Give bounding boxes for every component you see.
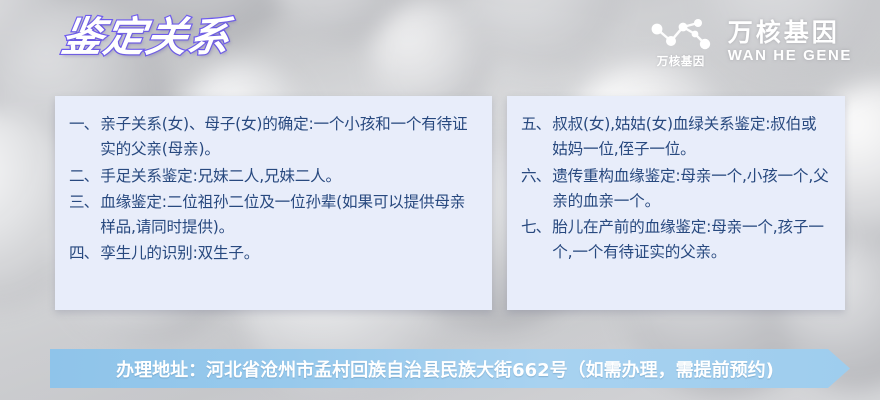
list-item: 四、 孪生儿的识别:双生子。 <box>69 241 478 266</box>
panel-right: 五、 叔叔(女),姑姑(女)血绿关系鉴定:叔伯或姑妈一位,侄子一位。 六、 遗传… <box>507 96 845 310</box>
list-item-text: 胎儿在产前的血缘鉴定:母亲一个,孩子一个,一个有待证实的父亲。 <box>552 215 831 266</box>
content-panels: 一、 亲子关系(女)、母子(女)的确定:一个小孩和一个有待证实的父亲(母亲)。 … <box>0 96 880 312</box>
list-item: 三、 血缘鉴定:二位祖孙二位及一位孙辈(如果可以提供母亲样品,请同时提供)。 <box>69 190 478 241</box>
address-text: 办理地址：河北省沧州市孟村回族自治县民族大街662号（如需办理，需提前预约) <box>116 356 784 382</box>
list-item-number: 七、 <box>521 215 552 240</box>
list-item-number: 二、 <box>69 164 100 189</box>
list-item-text: 叔叔(女),姑姑(女)血绿关系鉴定:叔伯或姑妈一位,侄子一位。 <box>552 112 831 163</box>
page-title: 鉴定关系 <box>59 17 233 58</box>
relationship-list-right: 五、 叔叔(女),姑姑(女)血绿关系鉴定:叔伯或姑妈一位,侄子一位。 六、 遗传… <box>521 112 831 266</box>
brand-mark: 万核基因 <box>648 16 714 68</box>
list-item-text: 遗传重构血缘鉴定:母亲一个,小孩一个,父亲的血亲一个。 <box>552 164 831 215</box>
molecule-node-icon <box>648 16 714 54</box>
list-item: 五、 叔叔(女),姑姑(女)血绿关系鉴定:叔伯或姑妈一位,侄子一位。 <box>521 112 831 163</box>
list-item-number: 三、 <box>69 190 100 215</box>
list-item-number: 六、 <box>521 164 552 189</box>
list-item-text: 血缘鉴定:二位祖孙二位及一位孙辈(如果可以提供母亲样品,请同时提供)。 <box>100 190 478 241</box>
brand-name-cn: 万核基因 <box>728 20 852 45</box>
list-item-text: 孪生儿的识别:双生子。 <box>100 241 478 266</box>
brand-wordmark: 万核基因 WAN HE GENE <box>728 20 852 63</box>
poster-canvas: 鉴定关系 <box>0 0 880 400</box>
relationship-list-left: 一、 亲子关系(女)、母子(女)的确定:一个小孩和一个有待证实的父亲(母亲)。 … <box>69 112 478 267</box>
list-item: 七、 胎儿在产前的血缘鉴定:母亲一个,孩子一个,一个有待证实的父亲。 <box>521 215 831 266</box>
list-item-text: 手足关系鉴定:兄妹二人,兄妹二人。 <box>100 164 478 189</box>
list-item-number: 五、 <box>521 112 552 137</box>
list-item-text: 亲子关系(女)、母子(女)的确定:一个小孩和一个有待证实的父亲(母亲)。 <box>100 112 478 163</box>
brand-name-en: WAN HE GENE <box>728 48 852 63</box>
list-item-number: 一、 <box>69 112 100 137</box>
list-item: 一、 亲子关系(女)、母子(女)的确定:一个小孩和一个有待证实的父亲(母亲)。 <box>69 112 478 163</box>
brand-mark-text: 万核基因 <box>657 56 705 68</box>
brand-logo: 万核基因 万核基因 WAN HE GENE <box>648 16 852 68</box>
list-item: 六、 遗传重构血缘鉴定:母亲一个,小孩一个,父亲的血亲一个。 <box>521 164 831 215</box>
list-item: 二、 手足关系鉴定:兄妹二人,兄妹二人。 <box>69 164 478 189</box>
list-item-number: 四、 <box>69 241 100 266</box>
panel-left: 一、 亲子关系(女)、母子(女)的确定:一个小孩和一个有待证实的父亲(母亲)。 … <box>55 96 492 310</box>
address-ribbon: 办理地址：河北省沧州市孟村回族自治县民族大街662号（如需办理，需提前预约) <box>50 349 850 388</box>
poster-header: 鉴定关系 <box>0 0 880 86</box>
